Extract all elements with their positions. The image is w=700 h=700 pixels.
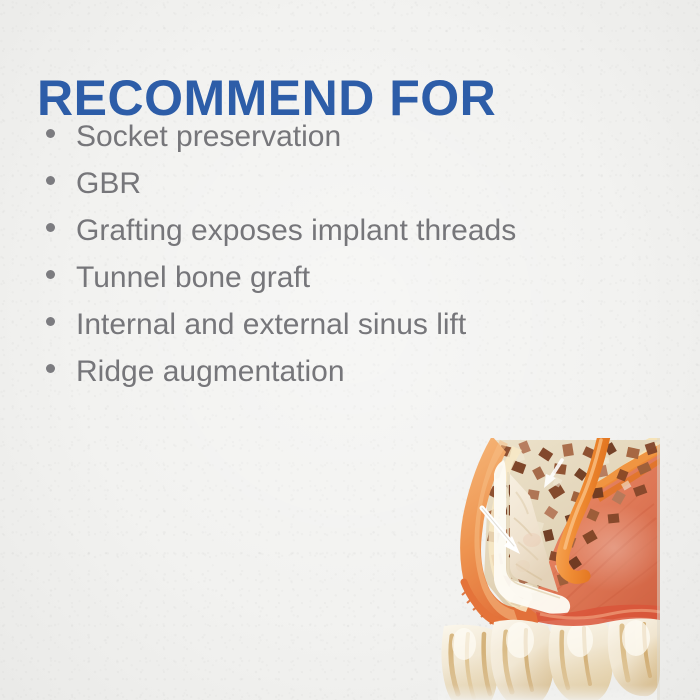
bullet-dot-icon bbox=[46, 364, 55, 373]
illustration-body bbox=[438, 432, 666, 700]
list-item-label: Grafting exposes implant threads bbox=[76, 214, 516, 248]
list-item-label: Ridge augmentation bbox=[76, 355, 345, 389]
list-item-label: GBR bbox=[76, 167, 141, 201]
list-item: Tunnel bone graft bbox=[46, 261, 516, 308]
bullet-dot-icon bbox=[46, 223, 55, 232]
list-item: Ridge augmentation bbox=[46, 355, 516, 402]
bullet-dot-icon bbox=[46, 129, 55, 138]
recommendation-list: Socket preservation GBR Grafting exposes… bbox=[46, 120, 516, 402]
page-title: RECOMMEND FOR bbox=[37, 73, 496, 123]
list-item: Socket preservation bbox=[46, 120, 516, 167]
bullet-dot-icon bbox=[46, 176, 55, 185]
list-item-label: Socket preservation bbox=[76, 120, 341, 154]
bullet-dot-icon bbox=[46, 317, 55, 326]
list-item-label: Tunnel bone graft bbox=[76, 261, 310, 295]
list-item: GBR bbox=[46, 167, 516, 214]
list-item: Grafting exposes implant threads bbox=[46, 214, 516, 261]
photo-right-edge bbox=[657, 438, 660, 700]
dental-bone-graft-illustration bbox=[408, 430, 700, 700]
bullet-dot-icon bbox=[46, 270, 55, 279]
slide-canvas: RECOMMEND FOR Socket preservation GBR Gr… bbox=[0, 0, 700, 700]
bottom-fade bbox=[438, 650, 660, 700]
list-item: Internal and external sinus lift bbox=[46, 308, 516, 355]
list-item-label: Internal and external sinus lift bbox=[76, 308, 466, 342]
